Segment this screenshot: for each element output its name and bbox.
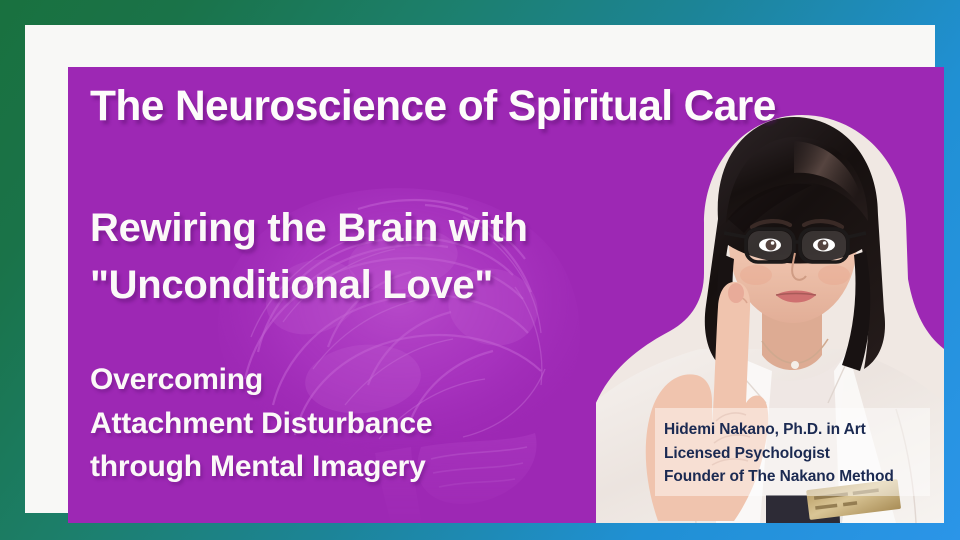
presenter-name: Hidemi Nakano, Ph.D. in Art — [664, 418, 930, 442]
subtitle-line-1: Rewiring the Brain with — [90, 200, 710, 257]
presenter-caption: Hidemi Nakano, Ph.D. in Art Licensed Psy… — [655, 408, 930, 496]
slide-description: Overcoming Attachment Disturbance throug… — [90, 358, 710, 489]
presenter-credential: Licensed Psychologist — [664, 442, 930, 466]
subtitle-line-2: "Unconditional Love" — [90, 257, 710, 314]
description-line-3: through Mental Imagery — [90, 445, 710, 489]
slide-subtitle: Rewiring the Brain with "Unconditional L… — [90, 200, 710, 314]
slide-white-frame: The Neuroscience of Spiritual Care Rewir… — [25, 25, 935, 513]
presenter-affiliation: Founder of The Nakano Method — [664, 465, 930, 489]
title-slide: The Neuroscience of Spiritual Care Rewir… — [0, 0, 960, 540]
slide-content-panel: The Neuroscience of Spiritual Care Rewir… — [68, 67, 944, 523]
slide-text-column: The Neuroscience of Spiritual Care Rewir… — [68, 67, 944, 523]
description-line-1: Overcoming — [90, 358, 710, 402]
description-line-2: Attachment Disturbance — [90, 402, 710, 446]
page-title: The Neuroscience of Spiritual Care — [90, 85, 930, 130]
